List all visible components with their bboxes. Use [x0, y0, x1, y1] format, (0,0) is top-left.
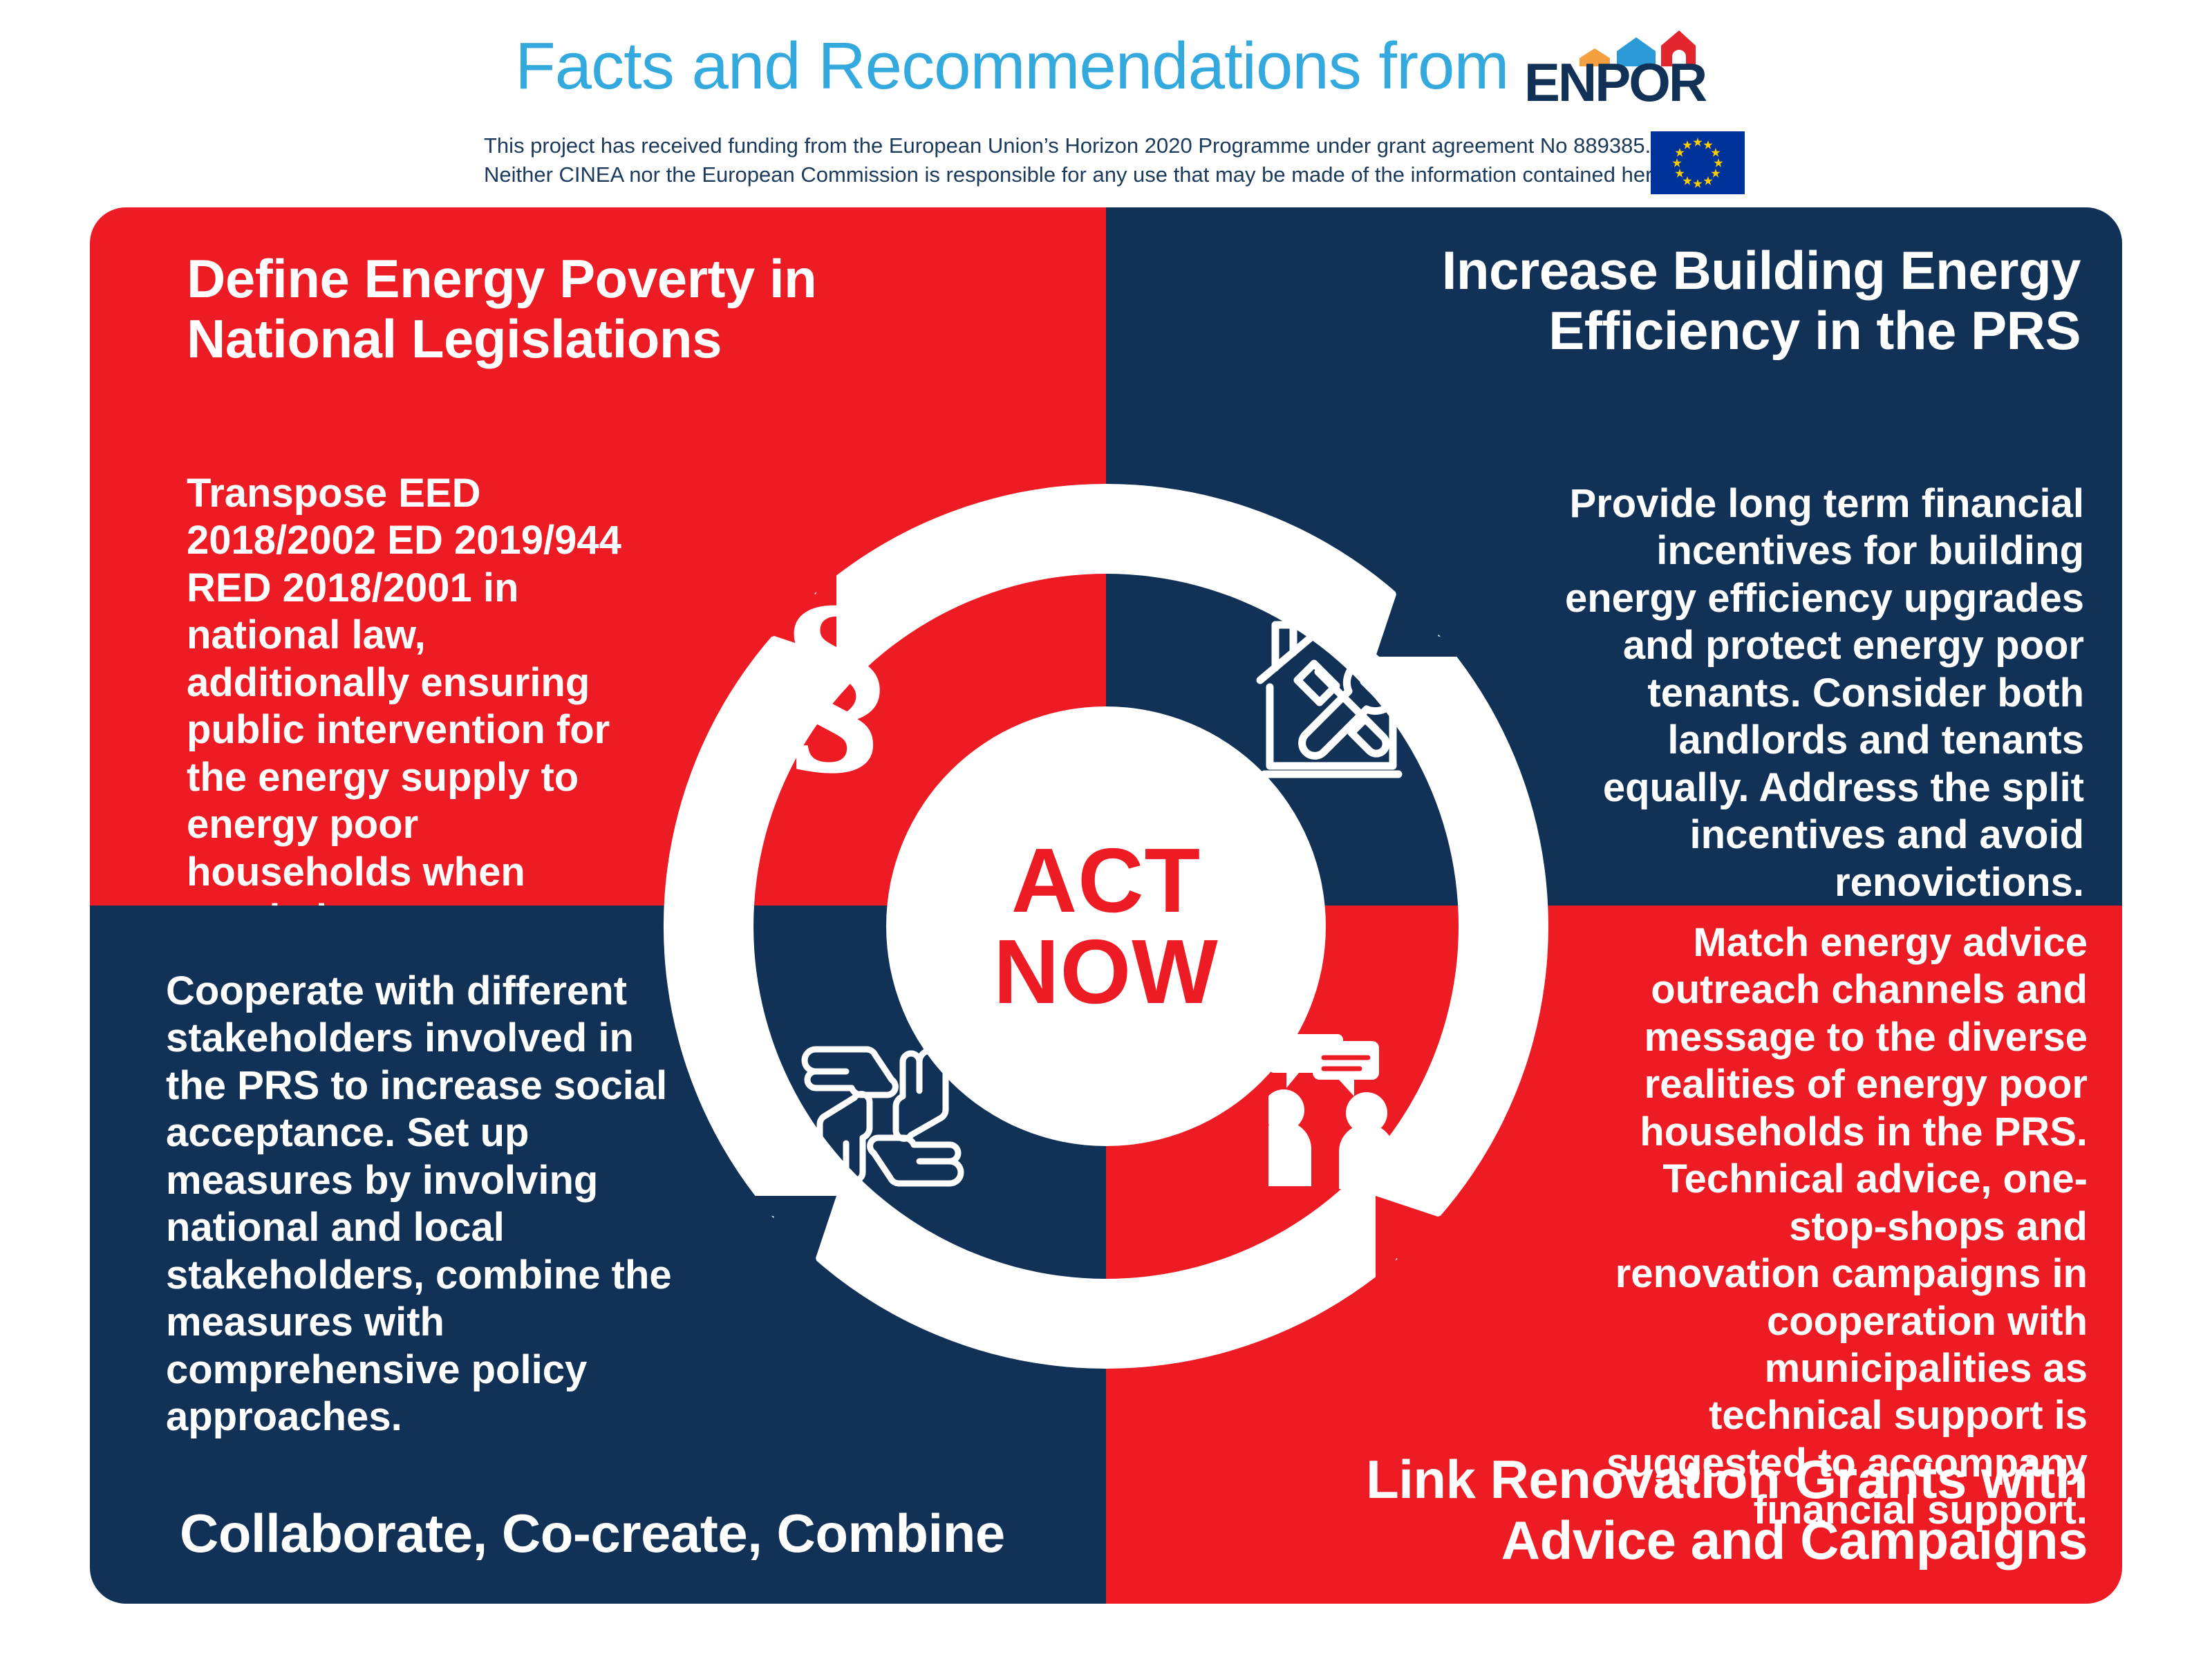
- quadrant-define-energy-poverty[interactable]: Define Energy Poverty in National Legisl…: [90, 207, 1106, 906]
- title-row: Facts and Recommendations from ENPOR: [0, 28, 2212, 105]
- quadrant-board: Define Energy Poverty in National Legisl…: [90, 207, 2122, 1604]
- quadrant-body: Provide long term financial incentives f…: [1538, 480, 2084, 906]
- funding-disclaimer: This project has received funding from t…: [484, 131, 1631, 189]
- quadrant-title: Increase Building Energy Efficiency in t…: [1251, 241, 2081, 362]
- eu-flag-stars: [1651, 131, 1745, 194]
- enpor-logo: ENPOR: [1524, 30, 1697, 108]
- quadrant-link-renovation-grants[interactable]: Match energy advice outreach channels an…: [1106, 906, 2122, 1604]
- disclaimer-line-2: Neither CINEA nor the European Commissio…: [484, 160, 1631, 189]
- quadrant-body: Cooperate with different stakeholders in…: [166, 968, 677, 1441]
- two-people-speech-bubbles-icon: [1268, 1030, 1455, 1196]
- paragraph-section-symbol-icon: §: [781, 594, 886, 774]
- quadrant-increase-building-energy-efficiency[interactable]: Increase Building Energy Efficiency in t…: [1106, 207, 2122, 906]
- page-title: Facts and Recommendations from: [515, 28, 1508, 104]
- quadrant-title: Define Energy Poverty in National Legisl…: [187, 249, 1016, 370]
- quadrant-body: Match energy advice outreach channels an…: [1590, 919, 2088, 1535]
- quadrant-title: Collaborate, Co-create, Combine: [180, 1503, 1009, 1564]
- quadrant-collaborate-cocreate-combine[interactable]: Cooperate with different stakeholders in…: [90, 906, 1106, 1604]
- house-with-tools-icon: [1255, 596, 1455, 782]
- eu-flag-icon: [1651, 131, 1745, 194]
- enpor-wordmark: ENPOR: [1524, 55, 1705, 109]
- disclaimer-line-1: This project has received funding from t…: [484, 131, 1631, 160]
- four-hands-teamwork-icon: [795, 1037, 968, 1196]
- quadrant-title: Link Renovation Grants with Advice and C…: [1224, 1450, 2088, 1571]
- page-header: Facts and Recommendations from ENPOR Thi…: [0, 0, 2212, 207]
- quadrant-body: Transpose EED 2018/2002 ED 2019/944 RED …: [187, 470, 629, 906]
